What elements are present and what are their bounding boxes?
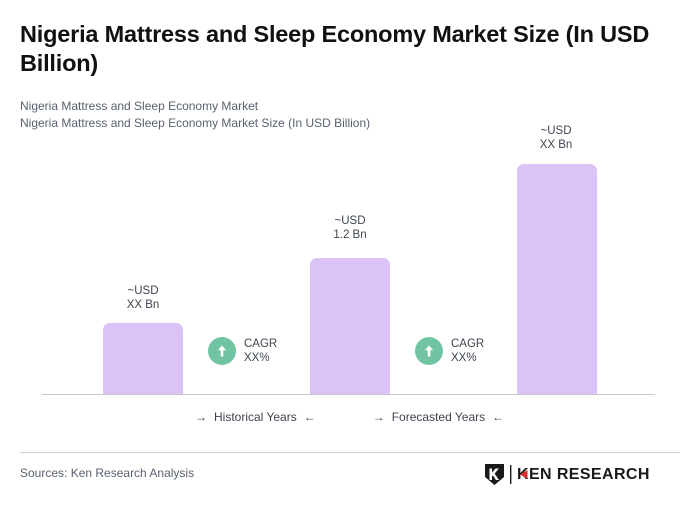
- cagr-label-line2: XX%: [244, 351, 277, 365]
- cagr-label-line2: XX%: [451, 351, 484, 365]
- footer-divider: [20, 452, 680, 453]
- bar-historical: [103, 323, 183, 394]
- bar-value-label-line2: XX Bn: [496, 138, 616, 152]
- bar-value-label: ~USD 1.2 Bn: [290, 214, 410, 242]
- arrow-up-icon: [208, 337, 236, 365]
- ken-research-shield-icon: [484, 463, 505, 486]
- logo-divider-icon: [510, 465, 512, 484]
- cagr-label: CAGR XX%: [244, 337, 277, 365]
- ken-research-logo: KEN RESEARCH: [484, 463, 650, 486]
- bar-value-label: ~USD XX Bn: [496, 124, 616, 152]
- logo-wordmark: KEN RESEARCH: [517, 466, 650, 483]
- period-label: Historical Years: [214, 410, 297, 424]
- cagr-label-line1: CAGR: [451, 337, 484, 351]
- cagr-label: CAGR XX%: [451, 337, 484, 365]
- bar-value-label-line1: ~USD: [496, 124, 616, 138]
- arrow-up-icon: [415, 337, 443, 365]
- bar-value-label: ~USD XX Bn: [83, 284, 203, 312]
- bar-current: [310, 258, 390, 394]
- chart-plot-area: ~USD XX Bn ~USD 1.2 Bn ~USD XX Bn CAGR: [0, 0, 700, 440]
- bar-value-label-line1: ~USD: [290, 214, 410, 228]
- cagr-label-line1: CAGR: [244, 337, 277, 351]
- bar-value-label-line2: XX Bn: [83, 298, 203, 312]
- period-label: Forecasted Years: [392, 410, 485, 424]
- chart-page: Nigeria Mattress and Sleep Economy Marke…: [0, 0, 700, 520]
- sources-text: Sources: Ken Research Analysis: [20, 466, 194, 480]
- arrow-right-icon: →: [373, 411, 385, 423]
- arrow-right-icon: →: [195, 411, 207, 423]
- x-axis-line: [42, 394, 655, 395]
- period-forecasted: → Forecasted Years ←: [373, 410, 504, 424]
- bar-value-label-line1: ~USD: [83, 284, 203, 298]
- period-legend: → Historical Years ← → Forecasted Years …: [42, 410, 655, 424]
- arrow-left-icon: ←: [492, 411, 504, 423]
- cagr-annotation-forecast: CAGR XX%: [415, 337, 484, 365]
- bar-forecast: [517, 164, 597, 394]
- logo-red-accent-icon: [520, 470, 528, 479]
- arrow-left-icon: ←: [304, 411, 316, 423]
- cagr-annotation-historical: CAGR XX%: [208, 337, 277, 365]
- period-historical: → Historical Years ←: [195, 410, 316, 424]
- bar-value-label-line2: 1.2 Bn: [290, 228, 410, 242]
